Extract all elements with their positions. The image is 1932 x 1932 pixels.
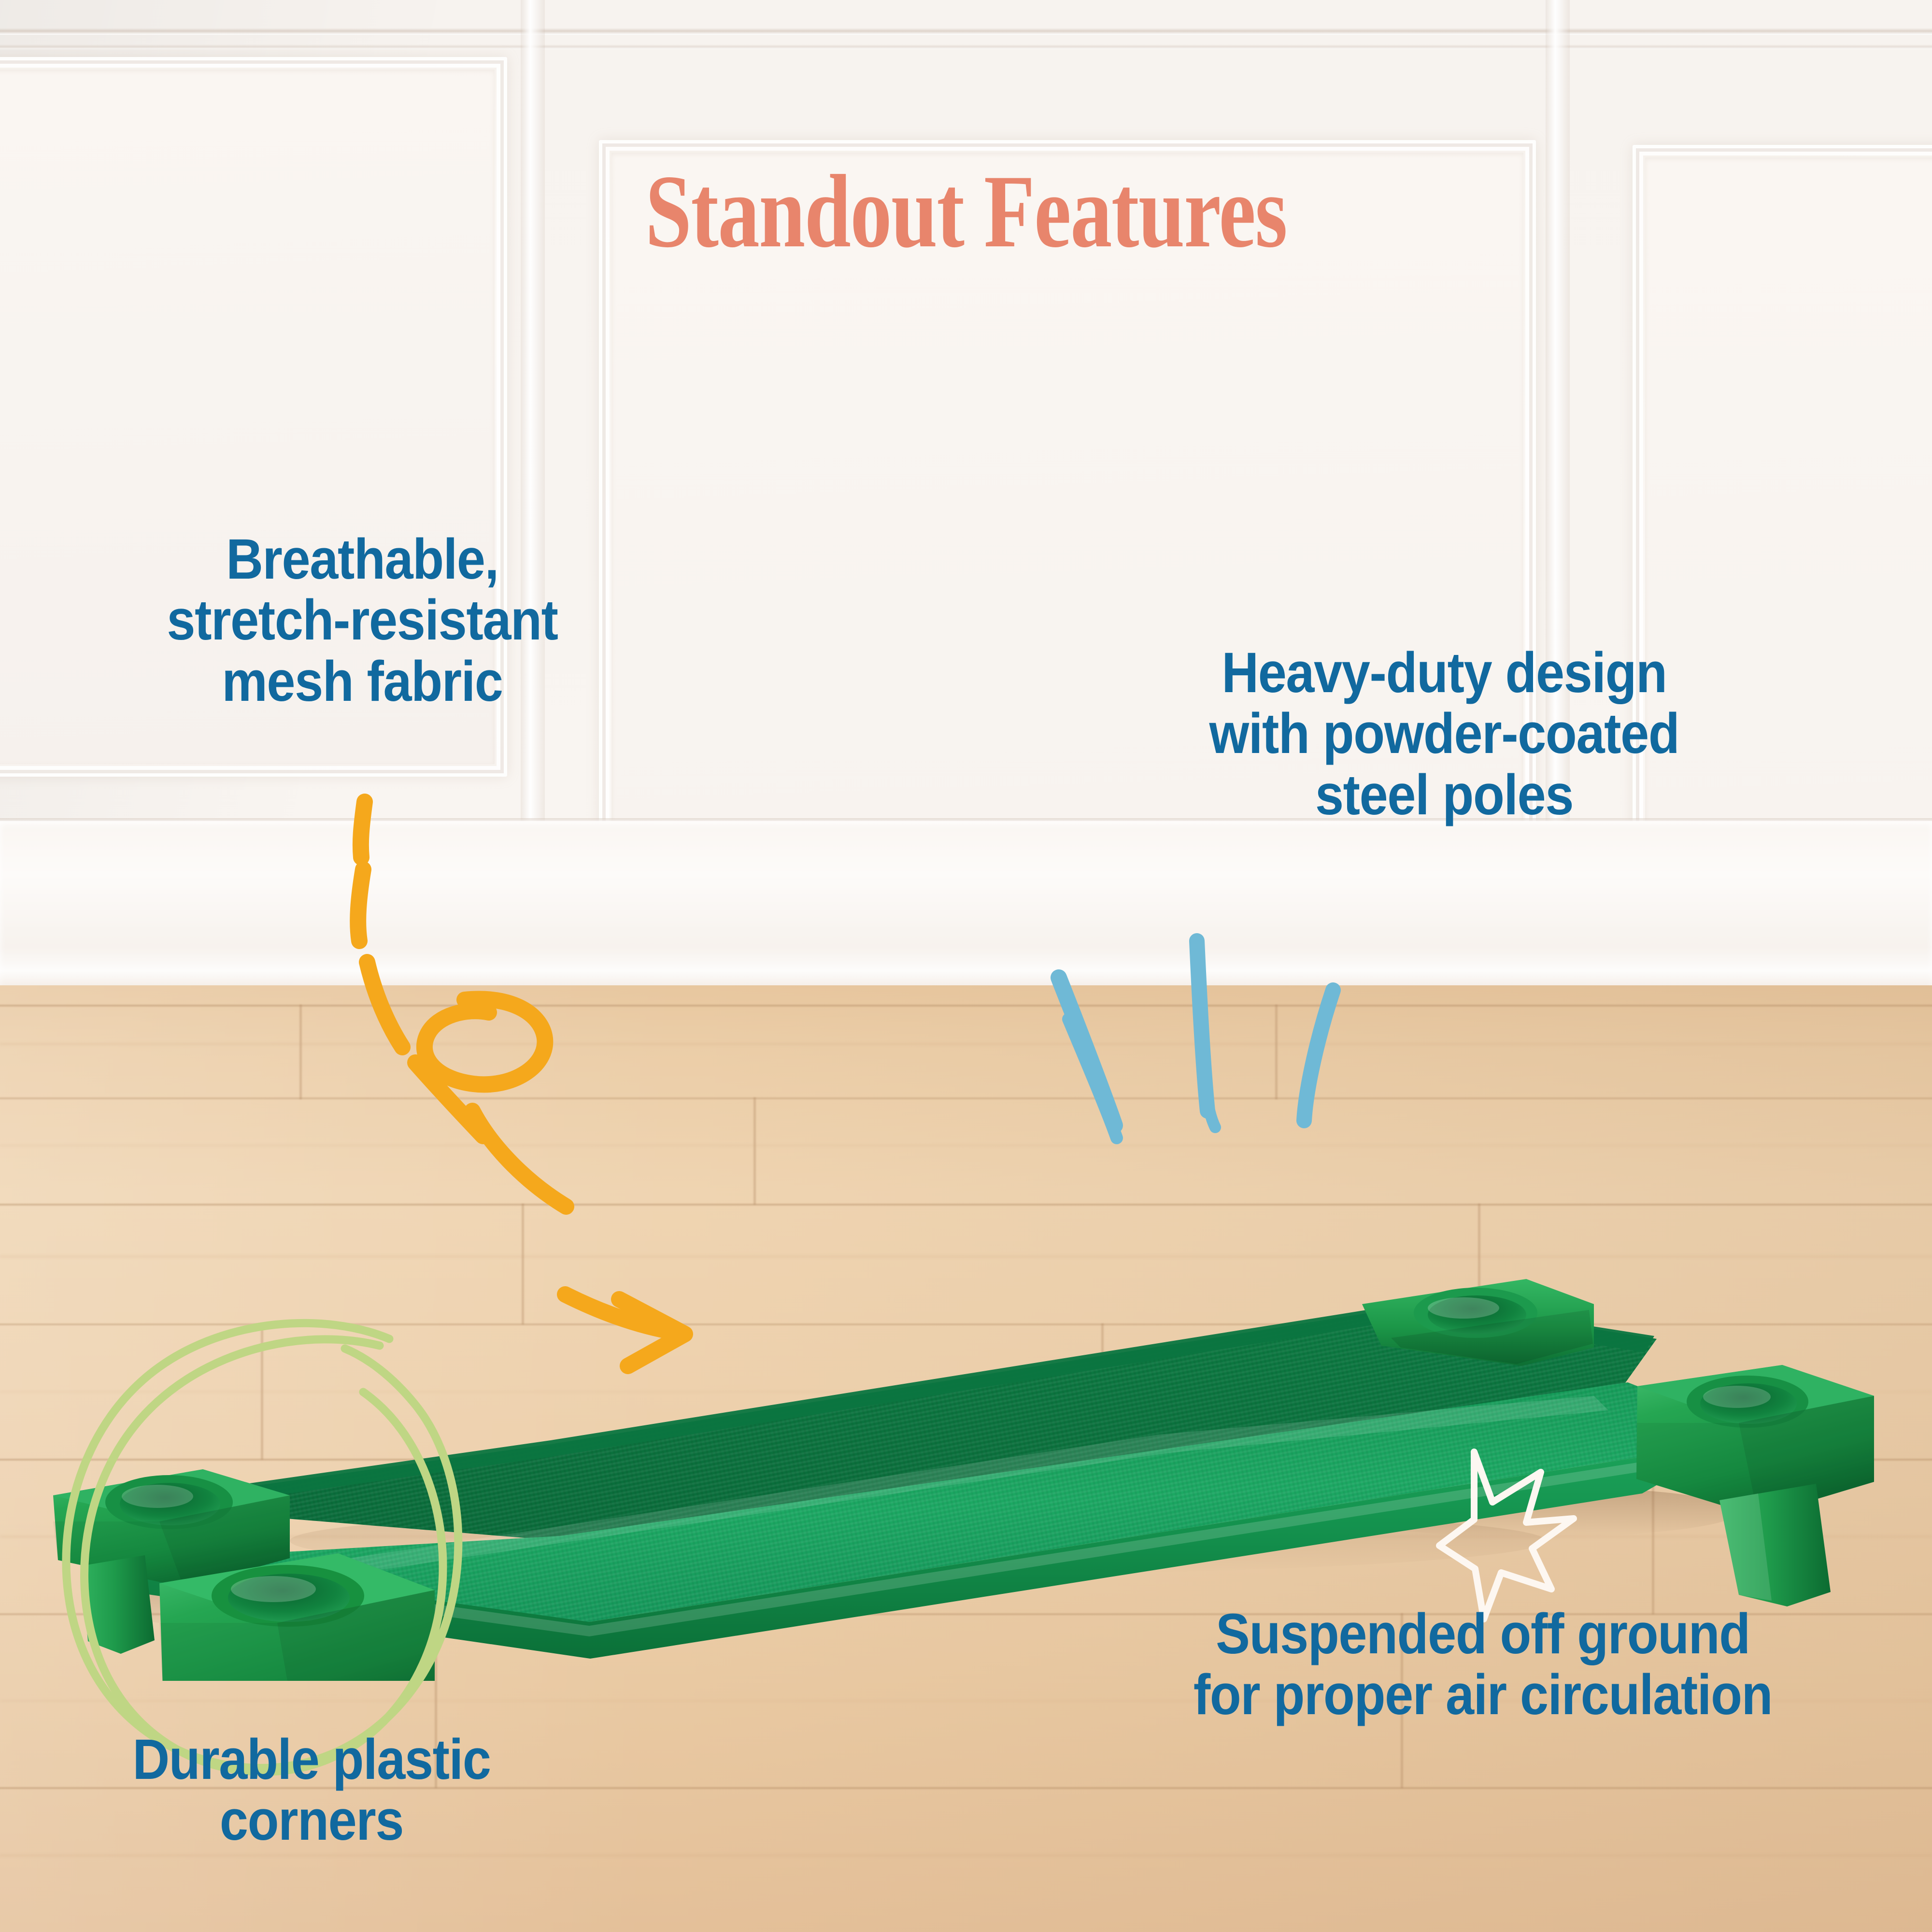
baseboard-highlight bbox=[0, 947, 1932, 990]
infographic-canvas: Standout Features Breathable, stretch-re… bbox=[0, 0, 1932, 1932]
callout-steel-poles: Heavy-duty design with powder-coated ste… bbox=[1127, 642, 1762, 825]
cot-corner-front-right bbox=[1636, 1365, 1874, 1606]
page-title: Standout Features bbox=[193, 159, 1739, 264]
wall-rail-lower bbox=[0, 44, 1932, 49]
wall-rail-upper bbox=[0, 28, 1932, 35]
callout-plastic-corners: Durable plastic corners bbox=[57, 1729, 566, 1851]
callout-air-circulation: Suspended off ground for proper air circ… bbox=[1079, 1604, 1887, 1726]
kiddie-cot-product bbox=[0, 1077, 1932, 1681]
callout-mesh-fabric: Breathable, stretch-resistant mesh fabri… bbox=[67, 529, 658, 712]
background-wall bbox=[0, 0, 1932, 1000]
cot-leg-back-left bbox=[81, 1555, 155, 1654]
